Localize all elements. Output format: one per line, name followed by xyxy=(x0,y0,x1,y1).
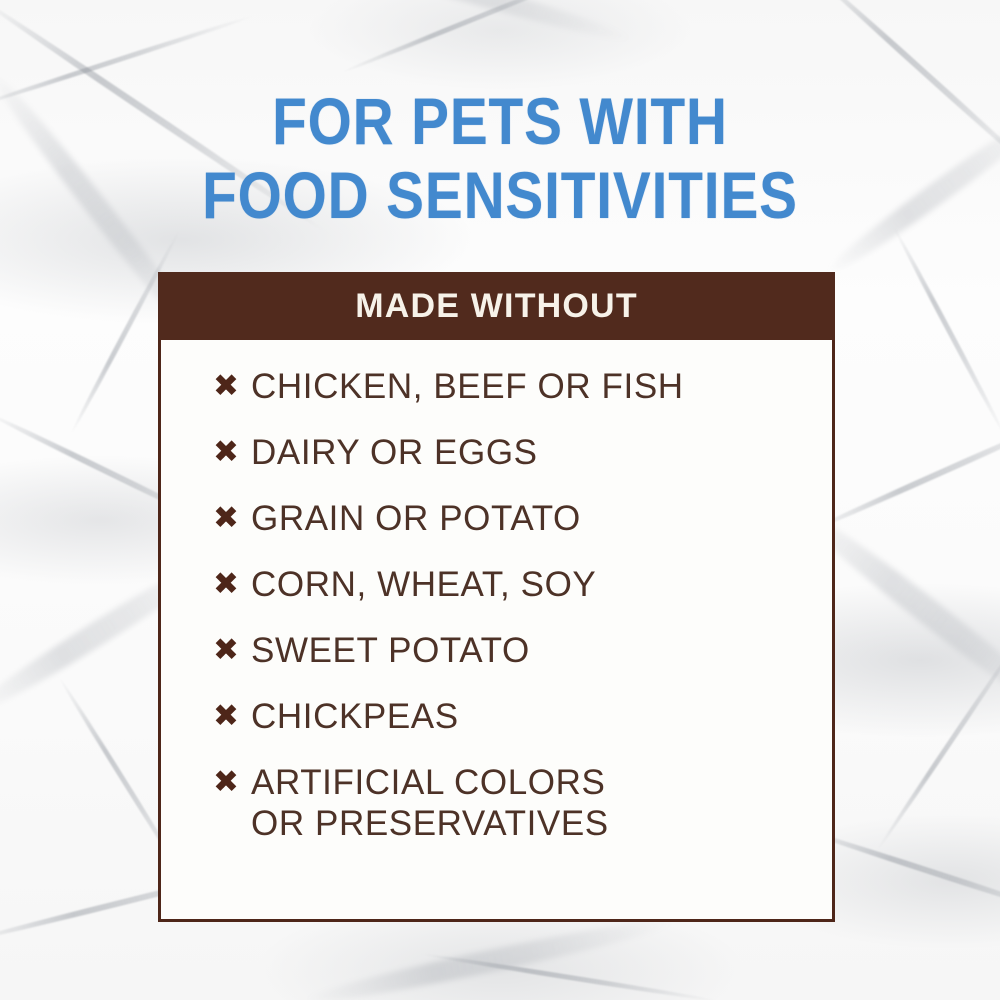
x-mark-icon: ✖ xyxy=(213,630,247,670)
card-header: MADE WITHOUT xyxy=(158,272,835,340)
list-item: ✖ GRAIN OR POTATO xyxy=(161,498,832,539)
x-mark-icon: ✖ xyxy=(213,498,247,538)
list-item: ✖ DAIRY OR EGGS xyxy=(161,432,832,473)
list-item: ✖ SWEET POTATO xyxy=(161,630,832,671)
product-infographic: FOR PETS WITH FOOD SENSITIVITIES MADE WI… xyxy=(0,0,1000,1000)
list-item: ✖ CHICKPEAS xyxy=(161,696,832,737)
list-item-label: CHICKEN, BEEF OR FISH xyxy=(247,366,684,407)
made-without-card: MADE WITHOUT ✖ CHICKEN, BEEF OR FISH ✖ D… xyxy=(158,272,835,922)
x-mark-icon: ✖ xyxy=(213,564,247,604)
excluded-ingredients-list: ✖ CHICKEN, BEEF OR FISH ✖ DAIRY OR EGGS … xyxy=(161,340,832,844)
list-item: ✖ CHICKEN, BEEF OR FISH xyxy=(161,366,832,407)
card-header-title: MADE WITHOUT xyxy=(355,287,638,326)
page-title: FOR PETS WITH FOOD SENSITIVITIES xyxy=(70,84,930,232)
x-mark-icon: ✖ xyxy=(213,762,247,802)
list-item-label: GRAIN OR POTATO xyxy=(247,498,581,539)
list-item: ✖ ARTIFICIAL COLORS OR PRESERVATIVES xyxy=(161,762,832,844)
list-item: ✖ CORN, WHEAT, SOY xyxy=(161,564,832,605)
list-item-label: CORN, WHEAT, SOY xyxy=(247,564,596,605)
list-item-label: DAIRY OR EGGS xyxy=(247,432,538,473)
x-mark-icon: ✖ xyxy=(213,366,247,406)
x-mark-icon: ✖ xyxy=(213,696,247,736)
list-item-label: SWEET POTATO xyxy=(247,630,530,671)
x-mark-icon: ✖ xyxy=(213,432,247,472)
list-item-label: ARTIFICIAL COLORS OR PRESERVATIVES xyxy=(247,762,609,844)
list-item-label: CHICKPEAS xyxy=(247,696,459,737)
